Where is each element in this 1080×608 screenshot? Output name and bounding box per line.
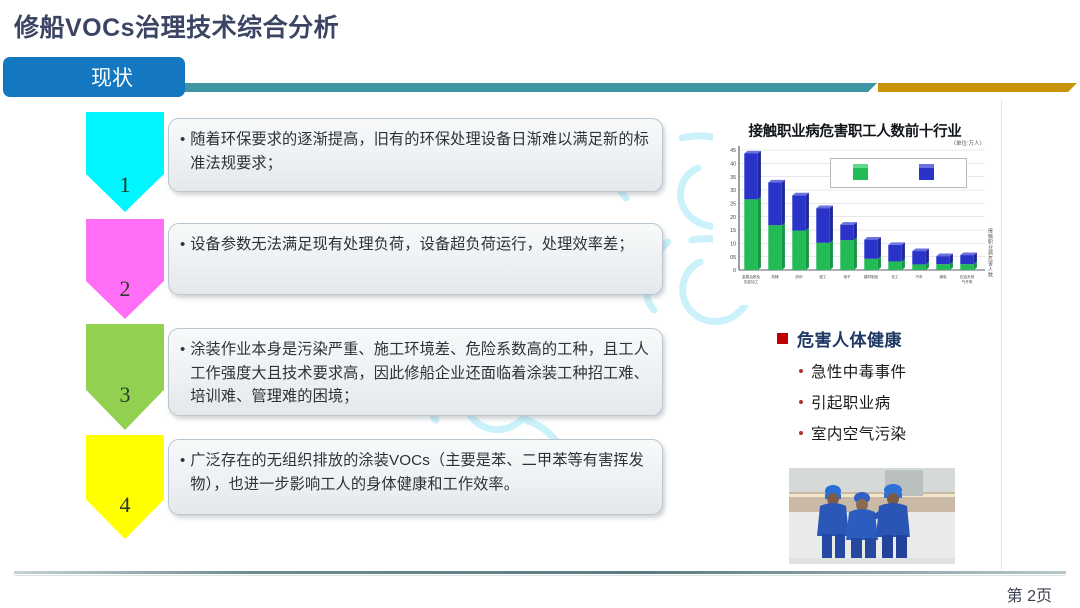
bullet-icon: • bbox=[180, 449, 190, 496]
section-tab-label: 现状 bbox=[3, 57, 185, 97]
svg-text:30: 30 bbox=[730, 188, 736, 194]
chevron-marker-4 bbox=[86, 435, 164, 539]
svg-text:电子: 电子 bbox=[843, 274, 851, 279]
svg-text:压延加工: 压延加工 bbox=[744, 279, 759, 284]
chevron-number-4: 4 bbox=[86, 492, 164, 518]
legend-swatch-green bbox=[853, 167, 868, 180]
svg-text:15: 15 bbox=[730, 228, 736, 234]
svg-text:05: 05 bbox=[730, 255, 736, 261]
point-text-3: 涂装作业本身是污染严重、施工环境差、危险系数高的工种，且工人工作强度大且技术要求… bbox=[190, 338, 650, 409]
chevron-number-3: 3 bbox=[86, 382, 164, 408]
hazard-list: 危害人体健康 急性中毒事件 引起职业病 室内空气污染 bbox=[777, 326, 997, 453]
square-bullet-icon bbox=[777, 333, 788, 344]
page-title: 修船VOCs治理技术综合分析 bbox=[14, 8, 339, 44]
slide-canvas: 修船VOCs治理技术综合分析 现状 1 • 随着环保要求的逐渐提高，旧有的环保处… bbox=[0, 0, 1080, 608]
svg-text:35: 35 bbox=[730, 175, 736, 181]
header-bar-gold bbox=[878, 83, 1077, 92]
chevron-marker-3 bbox=[86, 324, 164, 430]
svg-text:石油天然: 石油天然 bbox=[960, 274, 975, 279]
chevron-marker-2 bbox=[86, 219, 164, 319]
hazard-item: 急性中毒事件 bbox=[799, 360, 997, 382]
point-text-1: 随着环保要求的逐渐提高，旧有的环保处理设备日渐难以满足新的标准法规要求； bbox=[190, 128, 650, 175]
chevron-number-1: 1 bbox=[86, 172, 164, 198]
svg-text:汽车: 汽车 bbox=[915, 274, 923, 279]
bullet-icon: • bbox=[180, 128, 190, 175]
hazard-item-label: 急性中毒事件 bbox=[811, 360, 906, 382]
right-illustration-panel: 接触职业病危害职工人数前十行业 （单位:万人） 接触职业病危害人数 005101… bbox=[705, 100, 1002, 570]
hazard-heading: 危害人体健康 bbox=[777, 326, 997, 351]
hazard-item: 室内空气污染 bbox=[799, 422, 997, 444]
hazard-item: 引起职业病 bbox=[799, 391, 997, 413]
svg-text:0: 0 bbox=[733, 268, 736, 274]
footer-divider bbox=[14, 571, 1066, 574]
dot-bullet-icon bbox=[799, 431, 803, 435]
page-number: 第 2页 bbox=[1007, 582, 1052, 606]
text-box-1: • 随着环保要求的逐渐提高，旧有的环保处理设备日渐难以满足新的标准法规要求； bbox=[168, 118, 663, 192]
svg-text:10: 10 bbox=[730, 242, 736, 248]
header-bar-teal bbox=[180, 83, 877, 92]
section-tab[interactable]: 现状 bbox=[3, 57, 185, 97]
bullet-icon: • bbox=[180, 233, 190, 257]
bullet-icon: • bbox=[180, 338, 190, 409]
svg-text:建材制品: 建材制品 bbox=[864, 274, 879, 279]
occupational-disease-chart: 接触职业病危害职工人数前十行业 （单位:万人） 接触职业病危害人数 005101… bbox=[713, 120, 993, 305]
workers-in-blue-uniforms-photo bbox=[789, 468, 955, 564]
point-text-2: 设备参数无法满足现有处理负荷，设备超负荷运行，处理效率差； bbox=[190, 233, 650, 257]
text-box-2: • 设备参数无法满足现有处理负荷，设备超负荷运行，处理效率差； bbox=[168, 223, 663, 295]
points-list: 1 • 随着环保要求的逐渐提高，旧有的环保处理设备日渐难以满足新的标准法规要求；… bbox=[0, 104, 690, 564]
svg-text:金属冶炼及: 金属冶炼及 bbox=[742, 274, 760, 279]
svg-text:40: 40 bbox=[730, 162, 736, 168]
svg-text:气开采: 气开采 bbox=[962, 279, 973, 284]
svg-text:煤炭: 煤炭 bbox=[939, 274, 947, 279]
svg-text:纺织: 纺织 bbox=[795, 274, 803, 279]
svg-text:化工: 化工 bbox=[891, 274, 899, 279]
chevron-number-2: 2 bbox=[86, 276, 164, 302]
chart-legend bbox=[830, 158, 967, 188]
svg-text:25: 25 bbox=[730, 202, 736, 208]
hazard-heading-text: 危害人体健康 bbox=[797, 326, 902, 351]
svg-text:机械: 机械 bbox=[771, 274, 779, 279]
text-box-4: • 广泛存在的无组织排放的涂装VOCs（主要是苯、二甲苯等有害挥发物），也进一步… bbox=[168, 439, 663, 515]
svg-text:45: 45 bbox=[730, 148, 736, 154]
dot-bullet-icon bbox=[799, 400, 803, 404]
text-box-3: • 涂装作业本身是污染严重、施工环境差、危险系数高的工种，且工人工作强度大且技术… bbox=[168, 328, 663, 416]
dot-bullet-icon bbox=[799, 369, 803, 373]
legend-swatch-blue bbox=[919, 167, 934, 180]
svg-text:20: 20 bbox=[730, 215, 736, 221]
svg-text:轻工: 轻工 bbox=[819, 274, 827, 279]
chart-title: 接触职业病危害职工人数前十行业 bbox=[719, 120, 991, 141]
footer-divider-thin bbox=[14, 575, 1066, 576]
hazard-item-label: 引起职业病 bbox=[811, 391, 891, 413]
hazard-item-label: 室内空气污染 bbox=[811, 422, 906, 444]
point-text-4: 广泛存在的无组织排放的涂装VOCs（主要是苯、二甲苯等有害挥发物），也进一步影响… bbox=[190, 449, 650, 496]
